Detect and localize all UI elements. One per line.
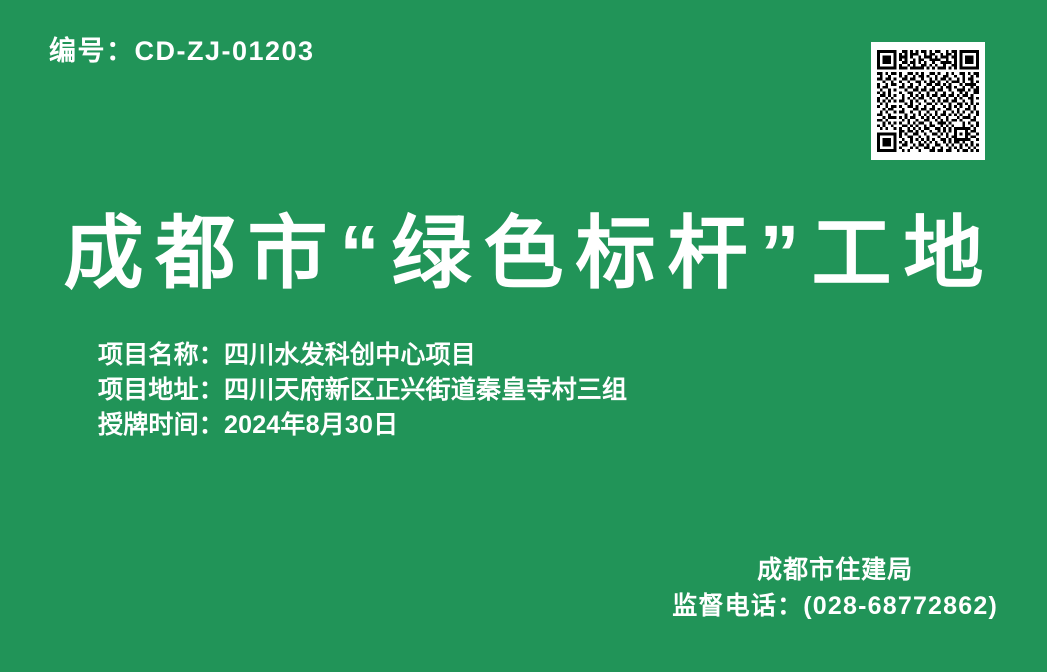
issuer-name: 成都市住建局 [672, 552, 998, 588]
project-name-line: 项目名称：四川水发科创中心项目 [98, 338, 627, 373]
issuer-footer: 成都市住建局 监督电话：(028-68772862) [672, 552, 998, 624]
supervision-hotline: 监督电话：(028-68772862) [672, 588, 998, 624]
serial-number: 编号：CD-ZJ-01203 [49, 38, 315, 65]
award-date-line: 授牌时间：2024年8月30日 [98, 408, 627, 443]
project-address-line: 项目地址：四川天府新区正兴街道秦皇寺村三组 [98, 373, 627, 408]
project-info-block: 项目名称：四川水发科创中心项目 项目地址：四川天府新区正兴街道秦皇寺村三组 授牌… [98, 338, 627, 443]
green-benchmark-site-plaque: 编号：CD-ZJ-01203 [0, 0, 1047, 672]
page-title: 成都市“绿色标杆”工地 [0, 206, 1047, 302]
qr-code-panel[interactable] [871, 42, 985, 160]
qr-code-icon [877, 49, 979, 153]
